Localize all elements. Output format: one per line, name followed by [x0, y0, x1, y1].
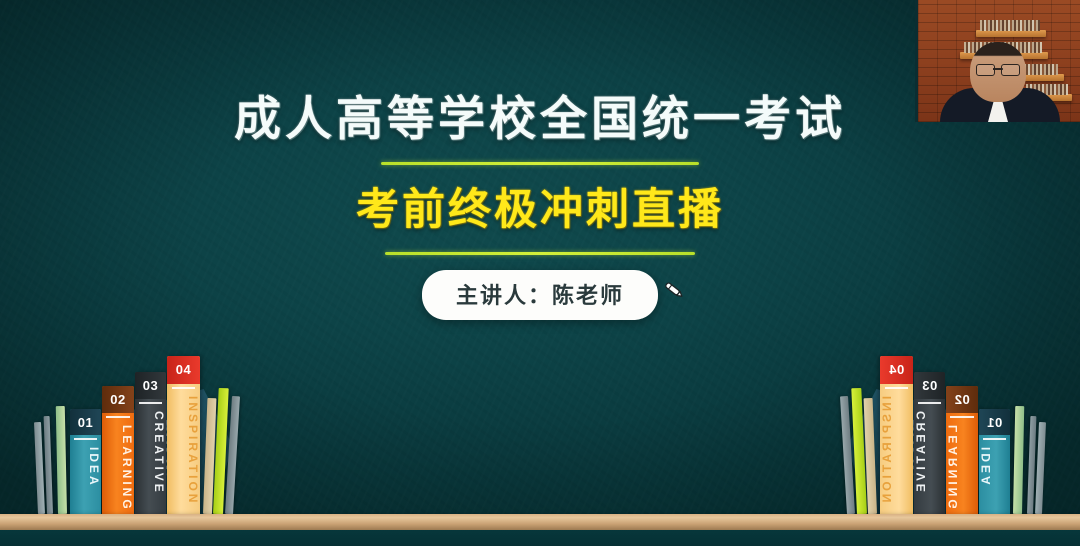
book-number: 03	[135, 372, 166, 398]
book-01-idea: 01 IDEA	[70, 409, 101, 514]
book-label: CREATIVE	[135, 411, 166, 495]
page-subtitle: 考前终极冲刺直播	[0, 175, 1080, 237]
book-02-learning: 02 LEARNING	[946, 386, 978, 514]
divider-upper	[381, 162, 699, 165]
book-label: LEARNING	[102, 425, 134, 512]
glasses-icon	[976, 64, 1020, 74]
book-04-inspiration: 04 INSPIRATION	[167, 356, 200, 514]
book-02-learning: 02 LEARNING	[102, 386, 134, 514]
book-04-inspiration: 04 INSPIRATION	[880, 356, 913, 514]
book-number: 01	[979, 409, 1010, 435]
pip-shelf-1	[976, 30, 1046, 37]
book-label: LEARNING	[946, 425, 978, 512]
book-01-idea: 01 IDEA	[979, 409, 1010, 514]
shelf-plank	[0, 514, 1080, 530]
book-number: 04	[167, 356, 200, 382]
book-number: 01	[70, 409, 101, 435]
book-number: 02	[946, 386, 978, 412]
book-number: 03	[914, 372, 945, 398]
book-label: CREATIVE	[914, 411, 945, 495]
book-03-creative: 03 CREATIVE	[135, 372, 166, 514]
pip-books-1	[980, 20, 1040, 31]
book-number: 02	[102, 386, 134, 412]
book-label: INSPIRATION	[880, 396, 913, 505]
pen-tool-cursor[interactable]	[660, 276, 686, 302]
divider-lower	[385, 252, 695, 255]
book-label: IDEA	[70, 447, 101, 488]
shelf-underside	[0, 530, 1080, 546]
book-label: IDEA	[979, 447, 1010, 488]
speaker-badge: 主讲人：陈老师	[422, 270, 658, 320]
livestream-slide: 成人高等学校全国统一考试 考前终极冲刺直播 主讲人：陈老师 BUSINESS C…	[0, 0, 1080, 546]
book-03-creative: 03 CREATIVE	[914, 372, 945, 514]
book-label: INSPIRATION	[167, 396, 200, 505]
instructor-webcam[interactable]	[915, 0, 1080, 122]
book-number: 04	[880, 356, 913, 382]
